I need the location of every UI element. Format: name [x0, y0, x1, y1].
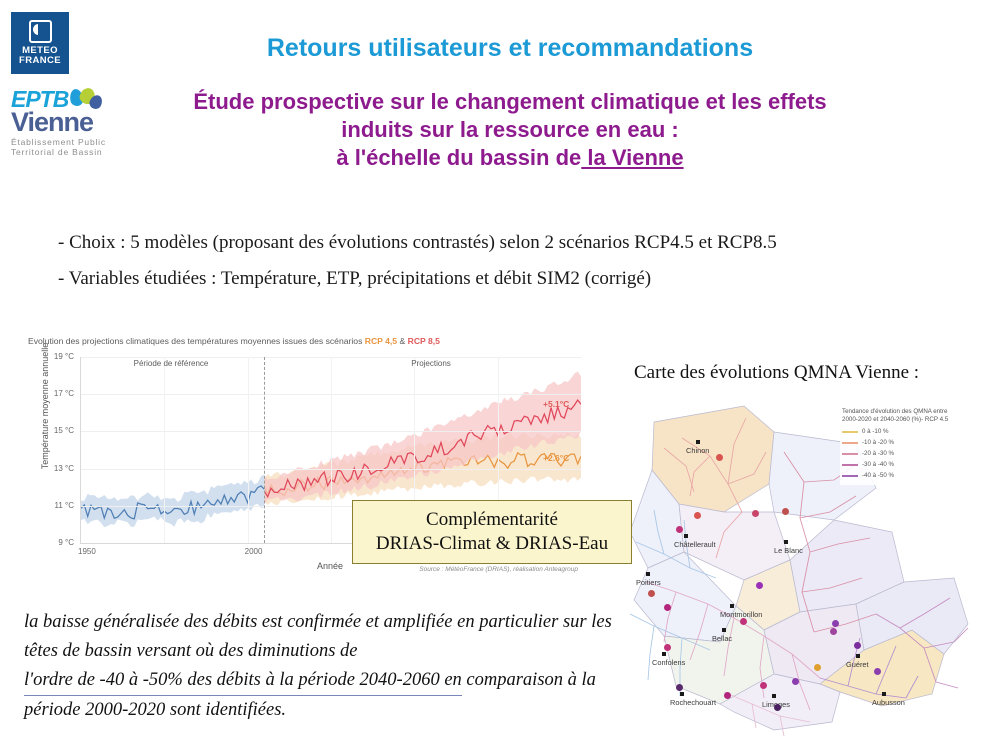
map-gauge-point	[792, 678, 799, 685]
chart-y-tick: 11 °C	[30, 501, 74, 510]
bullet-item-1: - Choix : 5 modèles (proposant des évolu…	[58, 232, 958, 254]
map-city-label: Châtellerault	[674, 540, 716, 549]
chart-y-tick: 9 °C	[30, 538, 74, 547]
map-legend-item: -10 à -20 %	[842, 439, 974, 447]
water-drops-icon	[70, 88, 104, 112]
chart-title-amp: &	[397, 336, 408, 346]
map-legend-item: -40 à -50 %	[842, 472, 974, 480]
meteo-france-logo-text: METEO FRANCE	[19, 46, 61, 66]
map-gauge-point	[724, 692, 731, 699]
chart-annotation: +5.1°C	[543, 399, 569, 409]
page-subtitle-line3-prefix: à l'échelle du bassin de	[336, 145, 581, 170]
map-city-marker	[684, 534, 688, 538]
map-gauge-point	[752, 510, 759, 517]
chart-x-tick: 2000	[245, 547, 263, 556]
meteo-france-logo-mark	[29, 20, 52, 43]
map-gauge-point	[716, 454, 723, 461]
chart-reference-divider	[264, 357, 265, 543]
chart-period-label: Période de référence	[131, 359, 211, 368]
map-legend-swatch	[842, 442, 858, 444]
map-city-marker	[856, 654, 860, 658]
complementarity-callout: Complémentarité DRIAS-Climat & DRIAS-Eau	[352, 500, 632, 564]
map-gauge-point	[664, 644, 671, 651]
bullet-list: - Choix : 5 modèles (proposant des évolu…	[58, 232, 958, 304]
map-gauge-point	[648, 590, 655, 597]
map-legend-swatch	[842, 464, 858, 466]
chart-title: Evolution des projections climatiques de…	[28, 336, 602, 346]
chart-y-tick: 15 °C	[30, 426, 74, 435]
map-gauge-point	[664, 604, 671, 611]
map-city-label: Confolens	[652, 658, 685, 667]
map-city-label: Aubusson	[872, 698, 905, 707]
map-legend: Tendance d'évolution des QMNA entre 2000…	[840, 406, 976, 485]
map-gauge-point	[854, 642, 861, 649]
map-city-marker	[680, 692, 684, 696]
eptb-subtitle-line1: Établissement Public	[11, 137, 131, 147]
map-city-label: Le Blanc	[774, 546, 803, 555]
map-city-label: Chinon	[686, 446, 709, 455]
eptb-subtitle: Établissement Public Territorial de Bass…	[11, 137, 131, 157]
map-city-marker	[662, 652, 666, 656]
map-gauge-point	[782, 508, 789, 515]
map-gauge-point	[740, 618, 747, 625]
paragraph-line1: la baisse généralisée des débits est con…	[24, 612, 475, 632]
map-city-marker	[784, 540, 788, 544]
chart-title-prefix: Evolution des projections climatiques de…	[28, 336, 365, 346]
map-gauge-point	[814, 664, 821, 671]
map-city-label: Bellac	[712, 634, 732, 643]
map-city-marker	[722, 628, 726, 632]
paragraph-line3: l'ordre de -40 à -50% des débits à la pé…	[24, 666, 462, 696]
map-legend-title: Tendance d'évolution des QMNA entre 2000…	[842, 408, 974, 425]
bullet-item-2: - Variables étudiées : Température, ETP,…	[58, 268, 958, 290]
meteo-france-line2: FRANCE	[19, 56, 61, 66]
slide-root: METEO FRANCE EPTB Vienne Établissement P…	[0, 0, 991, 740]
map-gauge-point	[874, 668, 881, 675]
map-gauge-point	[760, 682, 767, 689]
chart-title-rcp45: RCP 4,5	[365, 336, 397, 346]
chart-period-label: Projections	[391, 359, 471, 368]
map-legend-label: -40 à -50 %	[862, 472, 894, 480]
page-subtitle: Étude prospective sur le changement clim…	[140, 88, 880, 172]
map-legend-swatch	[842, 475, 858, 477]
map-legend-label: 0 à -10 %	[862, 428, 888, 436]
eptb-subtitle-line2: Territorial de Bassin	[11, 147, 131, 157]
meteo-france-logo: METEO FRANCE	[11, 12, 69, 74]
callout-line2: DRIAS-Climat & DRIAS-Eau	[376, 532, 608, 556]
map-legend-label: -30 à -40 %	[862, 461, 894, 469]
chart-y-tick: 17 °C	[30, 389, 74, 398]
chart-title-rcp85: RCP 8,5	[408, 336, 440, 346]
page-title: Retours utilisateurs et recommandations	[150, 34, 870, 63]
chart-source-note: Source : MétéoFrance (DRIAS), réalisatio…	[419, 566, 578, 573]
chart-gridline-v	[248, 357, 249, 543]
map-legend-item: -20 à -30 %	[842, 450, 974, 458]
chart-annotation: +2.6°C	[543, 453, 569, 463]
callout-line1: Complémentarité	[426, 508, 558, 532]
map-legend-title-line2: 2000-2020 et 2040-2060 (%)- RCP 4.5	[842, 416, 974, 424]
map-legend-label: -20 à -30 %	[862, 450, 894, 458]
chart-gridline-v	[331, 357, 332, 543]
eptb-name: Vienne	[11, 109, 131, 135]
map-gauge-point	[756, 582, 763, 589]
map-legend-item: 0 à -10 %	[842, 428, 974, 436]
map-legend-swatch	[842, 431, 858, 433]
map-gauge-point	[774, 704, 781, 711]
page-subtitle-line3-underlined: la Vienne	[581, 145, 683, 170]
map-city-label: Guéret	[846, 660, 869, 669]
chart-x-tick: 1950	[78, 547, 96, 556]
chart-y-tick: 19 °C	[30, 352, 74, 361]
page-subtitle-line3: à l'échelle du bassin de la Vienne	[140, 144, 880, 172]
page-subtitle-line2: induits sur la ressource en eau :	[140, 116, 880, 144]
map-gauge-point	[676, 684, 683, 691]
map-gauge-point	[832, 620, 839, 627]
map-legend-item: -30 à -40 %	[842, 461, 974, 469]
eptb-vienne-logo: EPTB Vienne Établissement Public Territo…	[11, 88, 131, 168]
map-city-marker	[772, 694, 776, 698]
map-legend-title-line1: Tendance d'évolution des QMNA entre	[842, 408, 974, 416]
map-legend-label: -10 à -20 %	[862, 439, 894, 447]
chart-gridline-v	[164, 357, 165, 543]
map-gauge-point	[676, 526, 683, 533]
conclusion-paragraph: la baisse généralisée des débits est con…	[24, 608, 614, 725]
map-city-marker	[730, 604, 734, 608]
map-city-marker	[882, 692, 886, 696]
map-gauge-point	[694, 512, 701, 519]
chart-y-tick: 13 °C	[30, 464, 74, 473]
qmna-vienne-map: Tendance d'évolution des QMNA entre 2000…	[624, 392, 976, 738]
chart-uncertainty-band	[81, 475, 264, 528]
map-gauge-point	[830, 628, 837, 635]
map-city-label: Rochechouart	[670, 698, 716, 707]
map-legend-swatch	[842, 453, 858, 455]
map-city-label: Poitiers	[636, 578, 661, 587]
page-subtitle-line1: Étude prospective sur le changement clim…	[140, 88, 880, 116]
map-city-marker	[696, 440, 700, 444]
map-legend-rows: 0 à -10 %-10 à -20 %-20 à -30 %-30 à -40…	[842, 428, 974, 480]
map-city-marker	[646, 572, 650, 576]
map-title: Carte des évolutions QMNA Vienne :	[634, 362, 919, 384]
